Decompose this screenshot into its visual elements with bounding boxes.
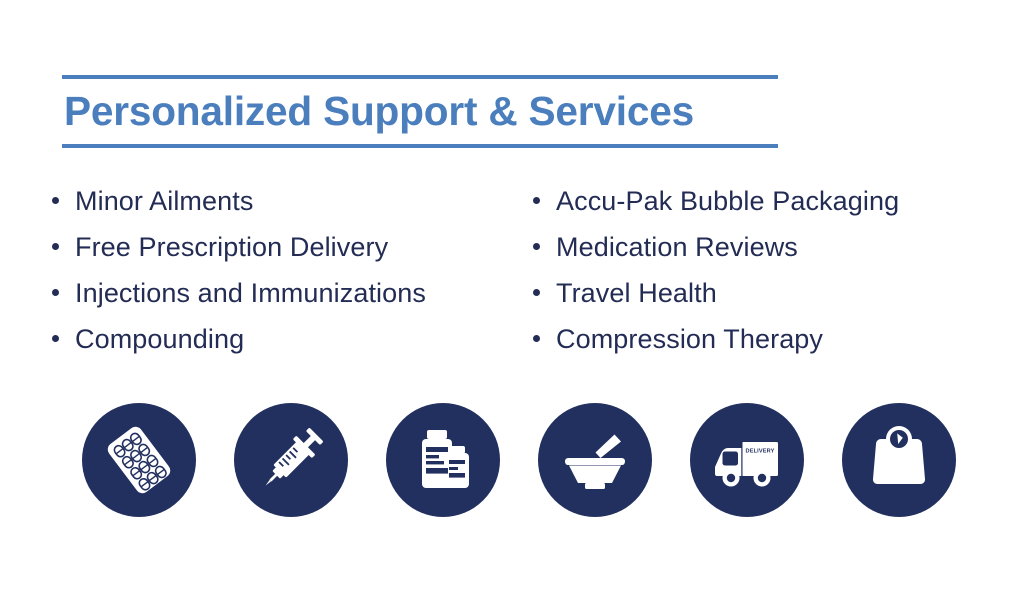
bullet-dot-icon bbox=[533, 335, 540, 342]
bullet-dot-icon bbox=[52, 197, 59, 204]
service-label: Minor Ailments bbox=[75, 178, 253, 224]
icon-badge-weight-scale bbox=[842, 403, 956, 517]
truck-delivery-text: DELIVERY bbox=[746, 449, 775, 455]
service-label: Injections and Immunizations bbox=[75, 270, 426, 316]
list-item: Accu-Pak Bubble Packaging bbox=[533, 178, 899, 224]
bullet-dot-icon bbox=[533, 243, 540, 250]
icon-badge-blister-pack bbox=[82, 403, 196, 517]
services-columns: Minor Ailments Free Prescription Deliver… bbox=[0, 178, 1025, 368]
delivery-truck-icon: DELIVERY bbox=[709, 422, 785, 498]
icon-badge-delivery-truck: DELIVERY bbox=[690, 403, 804, 517]
blister-pack-icon bbox=[101, 422, 177, 498]
list-item: Travel Health bbox=[533, 270, 899, 316]
list-item: Injections and Immunizations bbox=[52, 270, 426, 316]
icon-badge-mortar-pestle bbox=[538, 403, 652, 517]
list-item: Minor Ailments bbox=[52, 178, 426, 224]
service-label: Medication Reviews bbox=[556, 224, 798, 270]
weight-scale-icon bbox=[861, 422, 937, 498]
list-item: Compounding bbox=[52, 316, 426, 362]
slide-canvas: Personalized Support & Services Minor Ai… bbox=[0, 0, 1025, 590]
list-item: Free Prescription Delivery bbox=[52, 224, 426, 270]
bullet-dot-icon bbox=[533, 289, 540, 296]
title-bottom-rule bbox=[62, 144, 778, 148]
syringe-icon bbox=[253, 422, 329, 498]
service-label: Compounding bbox=[75, 316, 244, 362]
icon-badge-pill-bottles bbox=[386, 403, 500, 517]
icon-badge-syringe bbox=[234, 403, 348, 517]
mortar-and-pestle-icon bbox=[557, 422, 633, 498]
service-label: Free Prescription Delivery bbox=[75, 224, 388, 270]
services-right-column: Accu-Pak Bubble Packaging Medication Rev… bbox=[533, 178, 899, 362]
service-label: Compression Therapy bbox=[556, 316, 823, 362]
pill-bottles-icon bbox=[405, 422, 481, 498]
list-item: Compression Therapy bbox=[533, 316, 899, 362]
bullet-dot-icon bbox=[52, 243, 59, 250]
icon-row: DELIVERY bbox=[0, 403, 1025, 517]
list-item: Medication Reviews bbox=[533, 224, 899, 270]
bullet-dot-icon bbox=[533, 197, 540, 204]
service-label: Accu-Pak Bubble Packaging bbox=[556, 178, 899, 224]
page-title: Personalized Support & Services bbox=[62, 79, 771, 144]
bullet-dot-icon bbox=[52, 289, 59, 296]
title-block: Personalized Support & Services bbox=[62, 75, 778, 148]
service-label: Travel Health bbox=[556, 270, 717, 316]
bullet-dot-icon bbox=[52, 335, 59, 342]
services-left-column: Minor Ailments Free Prescription Deliver… bbox=[52, 178, 426, 362]
